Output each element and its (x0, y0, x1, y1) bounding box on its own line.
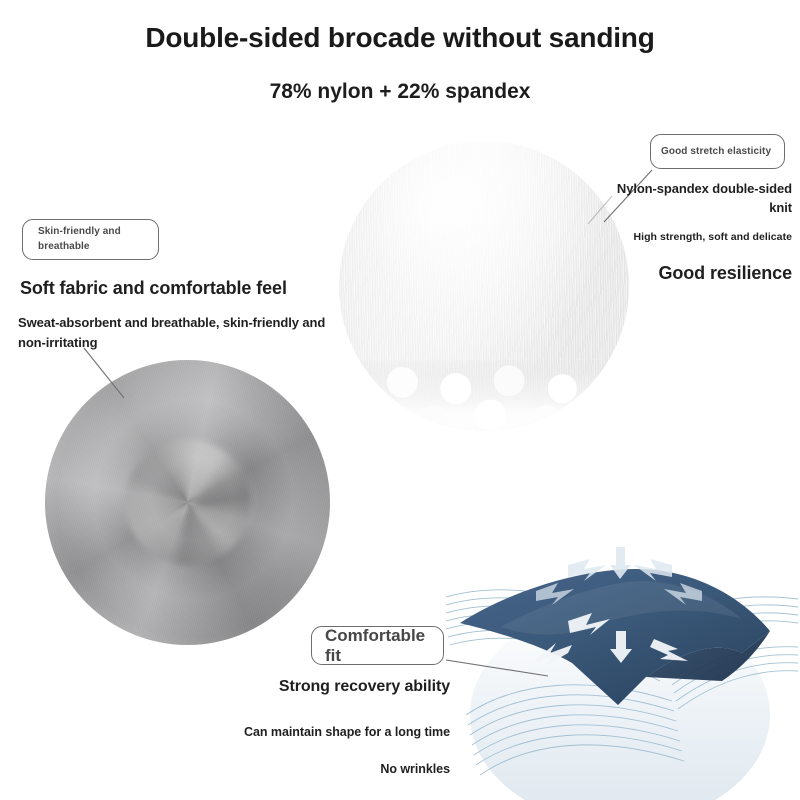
product-infographic: Double-sided brocade without sanding 78%… (0, 0, 800, 800)
feature-nylon-detail: High strength, soft and delicate (580, 231, 792, 243)
feature-nylon-heading: Nylon-spandex double-sided knit (596, 180, 792, 218)
stretch-recovery-illustration (440, 535, 800, 800)
knit-scalloped-edge (339, 359, 629, 432)
knit-fabric-photo (339, 141, 629, 431)
feature-soft-fabric-heading: Soft fabric and comfortable feel (20, 278, 287, 299)
badge-good-stretch[interactable]: Good stretch elasticity (650, 134, 785, 169)
feature-resilience-heading: Good resilience (580, 263, 792, 284)
composition-subtitle: 78% nylon + 22% spandex (0, 80, 800, 104)
badge-skin-friendly-label: Skin-friendly and breathable (38, 225, 158, 254)
fabric-shading-overlay (45, 360, 330, 645)
gray-fabric-photo (45, 360, 330, 645)
badge-comfortable-fit[interactable]: Comfortable fit (311, 626, 444, 665)
feature-recovery-detail-2: No wrinkles (200, 762, 450, 776)
feature-soft-fabric-detail: Sweat-absorbent and breathable, skin-fri… (18, 313, 348, 352)
feature-recovery-heading: Strong recovery ability (250, 676, 450, 698)
feature-recovery-detail-1: Can maintain shape for a long time (140, 725, 450, 739)
page-title: Double-sided brocade without sanding (0, 22, 800, 54)
badge-comfortable-fit-label: Comfortable fit (325, 626, 443, 666)
badge-good-stretch-label: Good stretch elasticity (661, 146, 771, 157)
badge-skin-friendly[interactable]: Skin-friendly and breathable (22, 219, 159, 260)
